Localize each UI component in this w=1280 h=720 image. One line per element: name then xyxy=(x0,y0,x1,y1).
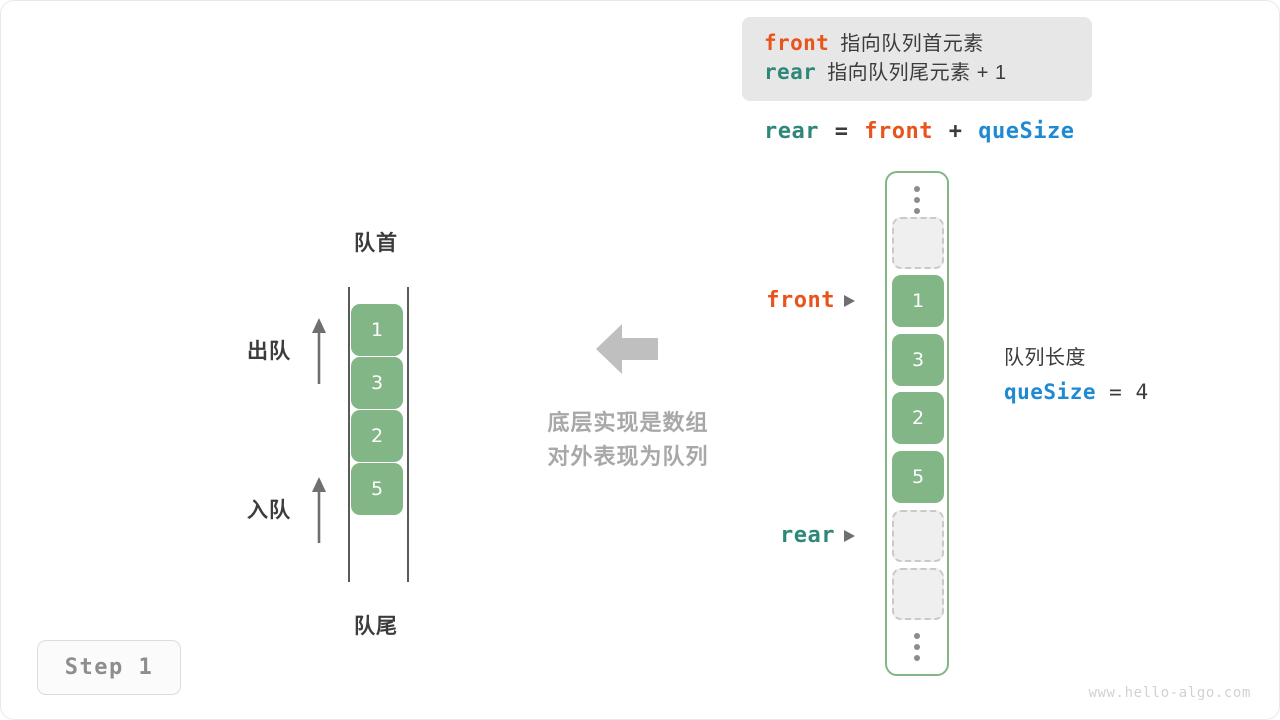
queue-cell-1: 3 xyxy=(351,357,403,409)
enqueue-annotation: 入队 xyxy=(197,473,327,545)
ellipsis-bottom-icon xyxy=(887,633,947,661)
quesize-note-title: 队列长度 xyxy=(1004,341,1149,370)
pointer-front-arrow-icon xyxy=(844,295,855,307)
pointer-front-label: front xyxy=(766,288,835,313)
formula-rhs1: front xyxy=(864,119,933,144)
formula-rhs2: queSize xyxy=(978,119,1074,144)
quesize-note-formula: queSize = 4 xyxy=(1004,380,1149,404)
quesize-value: 4 xyxy=(1135,380,1148,404)
formula-plus: + xyxy=(949,119,963,144)
queue-rail-left xyxy=(348,287,350,582)
queue-tail-label: 队尾 xyxy=(301,610,451,640)
queue-head-label: 队首 xyxy=(301,227,451,257)
array-cell-5 xyxy=(892,510,944,562)
queue-rail-right xyxy=(407,287,409,582)
formula-lhs: rear xyxy=(764,119,819,144)
ellipsis-top-icon xyxy=(887,186,947,214)
array-cell-4: 5 xyxy=(892,451,944,503)
legend-line-rear: rear 指向队列尾元素 + 1 xyxy=(742,58,1092,87)
queue-cell-0: 1 xyxy=(351,304,403,356)
array-cell-2: 3 xyxy=(892,334,944,386)
center-note-line1: 底层实现是数组 xyxy=(528,406,728,440)
rear-formula: rear = front + queSize xyxy=(763,119,1075,144)
pointer-rear-arrow-icon xyxy=(844,530,855,542)
dequeue-annotation: 出队 xyxy=(197,314,327,386)
legend-line-front: front 指向队列首元素 xyxy=(742,29,1092,58)
pointer-rear-label: rear xyxy=(780,523,835,548)
enqueue-label: 入队 xyxy=(247,494,291,524)
watermark: www.hello-algo.com xyxy=(1088,685,1251,701)
legend-desc-rear: 指向队列尾元素 + 1 xyxy=(827,60,1006,87)
array-cell-0 xyxy=(892,217,944,269)
left-arrow-icon xyxy=(596,321,658,377)
legend-desc-front: 指向队列首元素 xyxy=(840,31,984,58)
quesize-eq: = xyxy=(1109,380,1122,404)
array-cell-3: 2 xyxy=(892,392,944,444)
queue-cell-3: 5 xyxy=(351,463,403,515)
queue-cell-2: 2 xyxy=(351,410,403,462)
legend-var-rear: rear xyxy=(764,58,816,86)
array-container: 1 3 2 5 xyxy=(885,171,949,676)
center-note-line2: 对外表现为队列 xyxy=(528,440,728,474)
dequeue-label: 出队 xyxy=(247,335,291,365)
pointer-rear: rear xyxy=(780,523,855,548)
array-cell-1: 1 xyxy=(892,275,944,327)
diagram-canvas: front 指向队列首元素 rear 指向队列尾元素 + 1 rear = fr… xyxy=(0,0,1280,720)
center-note: 底层实现是数组 对外表现为队列 xyxy=(528,406,728,474)
array-cell-6 xyxy=(892,568,944,620)
step-badge: Step 1 xyxy=(37,640,181,695)
quesize-var: queSize xyxy=(1004,380,1096,404)
legend-var-front: front xyxy=(764,29,829,57)
pointer-legend-box: front 指向队列首元素 rear 指向队列尾元素 + 1 xyxy=(742,17,1092,101)
formula-eq: = xyxy=(835,119,849,144)
quesize-note: 队列长度 queSize = 4 xyxy=(1004,341,1149,404)
pointer-front: front xyxy=(766,288,855,313)
